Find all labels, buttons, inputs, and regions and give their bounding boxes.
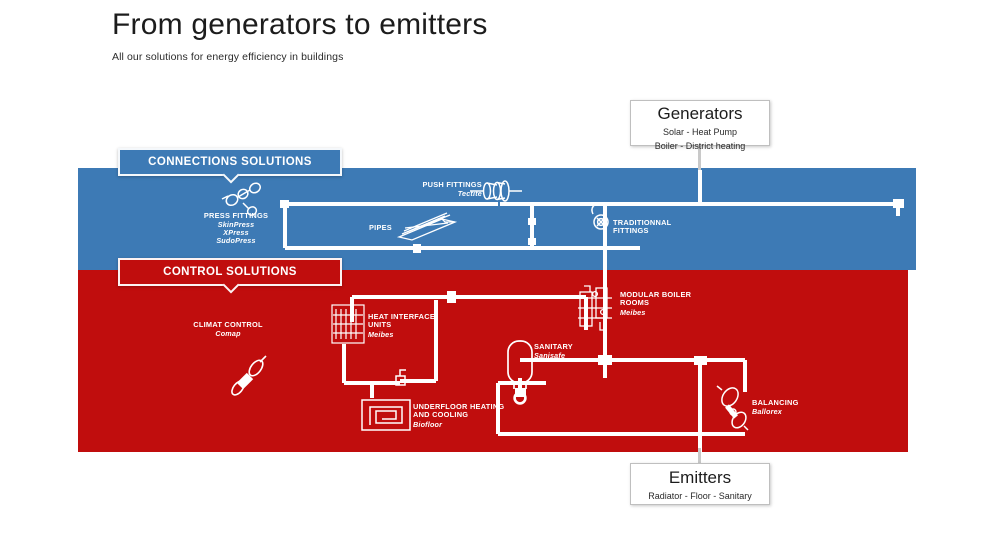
generators-line-2: Boiler - District heating xyxy=(631,140,769,152)
climat-control-brand: Comap xyxy=(180,330,276,338)
node-label-traditional-fittings[interactable]: TRADITIONNAL FITTINGS xyxy=(613,219,685,236)
push-fittings-title: PUSH FITTINGS xyxy=(400,181,482,189)
node-label-balancing[interactable]: BALANCING Ballorex xyxy=(752,399,818,416)
balancing-brand: Ballorex xyxy=(752,408,818,416)
emitters-line-1: Radiator - Floor - Sanitary xyxy=(631,490,769,502)
underfloor-brand: Biofloor xyxy=(413,421,509,429)
climat-control-title: CLIMAT CONTROL xyxy=(180,321,276,329)
node-label-press-fittings[interactable]: PRESS FITTINGS SkinPress XPress SudoPres… xyxy=(190,212,282,245)
emitters-title: Emitters xyxy=(631,469,769,488)
modular-boiler-brand: Meibes xyxy=(620,309,706,317)
banner-connections-solutions[interactable]: CONNECTIONS SOLUTIONS xyxy=(118,148,342,176)
page-header: From generators to emitters All our solu… xyxy=(112,8,632,63)
underfloor-title: UNDERFLOOR HEATING AND COOLING xyxy=(413,403,509,420)
press-fittings-title: PRESS FITTINGS xyxy=(190,212,282,220)
page-title: From generators to emitters xyxy=(112,8,632,43)
sanitary-brand: Sanisafe xyxy=(534,352,602,360)
banner-control-solutions[interactable]: CONTROL SOLUTIONS xyxy=(118,258,342,286)
heat-interface-title: HEAT INTERFACE UNITS xyxy=(368,313,448,330)
node-label-modular-boiler-rooms[interactable]: MODULAR BOILER ROOMS Meibes xyxy=(620,291,706,317)
node-label-heat-interface-units[interactable]: HEAT INTERFACE UNITS Meibes xyxy=(368,313,448,339)
node-label-sanitary[interactable]: SANITARY Sanisafe xyxy=(534,343,602,360)
press-fittings-brand: SkinPress XPress SudoPress xyxy=(190,221,282,245)
emitters-connector xyxy=(698,448,701,464)
node-label-climat-control[interactable]: CLIMAT CONTROL Comap xyxy=(180,321,276,338)
emitters-callout[interactable]: Emitters Radiator - Floor - Sanitary xyxy=(630,463,770,505)
page-subtitle: All our solutions for energy efficiency … xyxy=(112,51,632,63)
generators-line-1: Solar - Heat Pump xyxy=(631,126,769,138)
pipes-title: PIPES xyxy=(354,224,392,232)
balancing-title: BALANCING xyxy=(752,399,818,407)
heat-interface-brand: Meibes xyxy=(368,331,448,339)
node-label-pipes[interactable]: PIPES xyxy=(354,224,392,232)
generators-callout[interactable]: Generators Solar - Heat Pump Boiler - Di… xyxy=(630,100,770,146)
node-label-underfloor-heating[interactable]: UNDERFLOOR HEATING AND COOLING Biofloor xyxy=(413,403,509,429)
sanitary-title: SANITARY xyxy=(534,343,602,351)
generators-title: Generators xyxy=(631,105,769,124)
modular-boiler-title: MODULAR BOILER ROOMS xyxy=(620,291,706,308)
node-label-push-fittings[interactable]: PUSH FITTINGS Tectite xyxy=(400,181,482,198)
push-fittings-brand: Tectite xyxy=(400,190,482,198)
traditional-fittings-title: TRADITIONNAL FITTINGS xyxy=(613,219,685,236)
